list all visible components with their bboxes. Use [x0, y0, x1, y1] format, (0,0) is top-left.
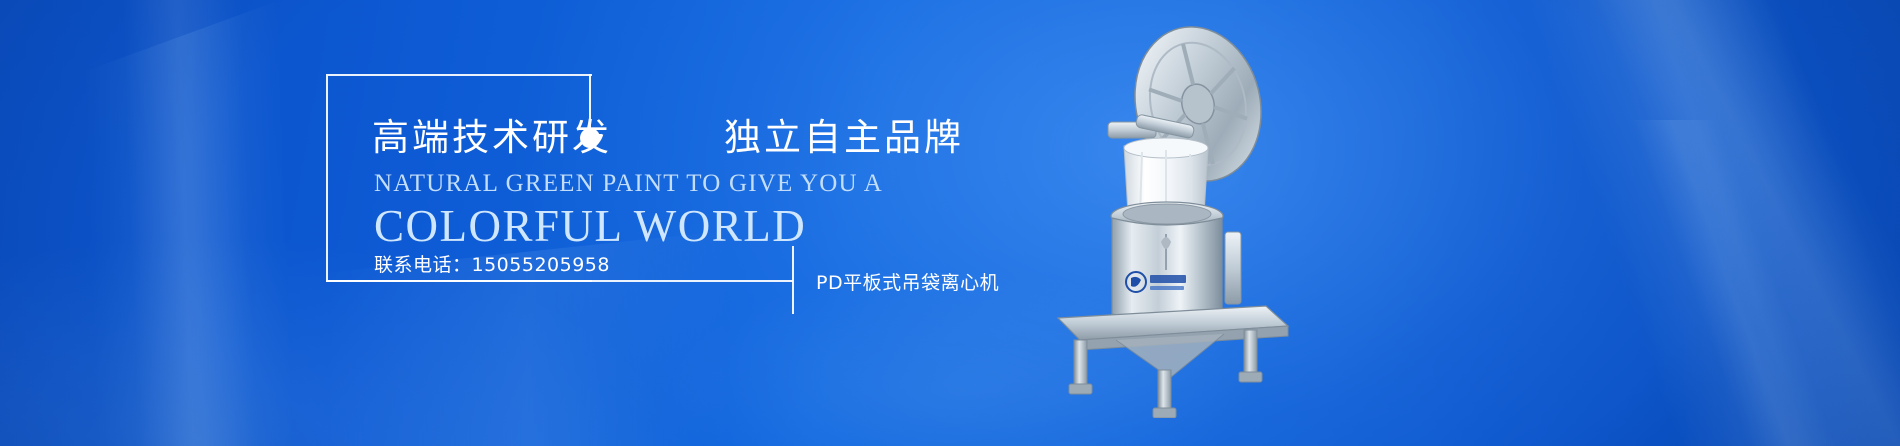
- page-title: 高端技术研发独立自主品牌: [372, 114, 964, 162]
- tagline-large: COLORFUL WORLD: [374, 200, 806, 252]
- contact-phone: 联系电话：15055205958: [374, 250, 610, 277]
- headline-part-2: 独立自主品牌: [724, 116, 964, 159]
- hero-banner: 高端技术研发独立自主品牌 NATURAL GREEN PAINT TO GIVE…: [0, 0, 1900, 446]
- centrifuge-machine-image: [1020, 18, 1320, 418]
- leader-line-tick-icon: [792, 246, 794, 314]
- vignette-decor: [0, 0, 1900, 446]
- headline-part-1: 高端技术研发: [372, 116, 612, 159]
- tagline-small: NATURAL GREEN PAINT TO GIVE YOU A: [374, 170, 883, 198]
- leader-line-icon: [326, 280, 793, 282]
- machine-drum-decor: [1112, 218, 1241, 320]
- product-label: PD平板式吊袋离心机: [816, 268, 999, 295]
